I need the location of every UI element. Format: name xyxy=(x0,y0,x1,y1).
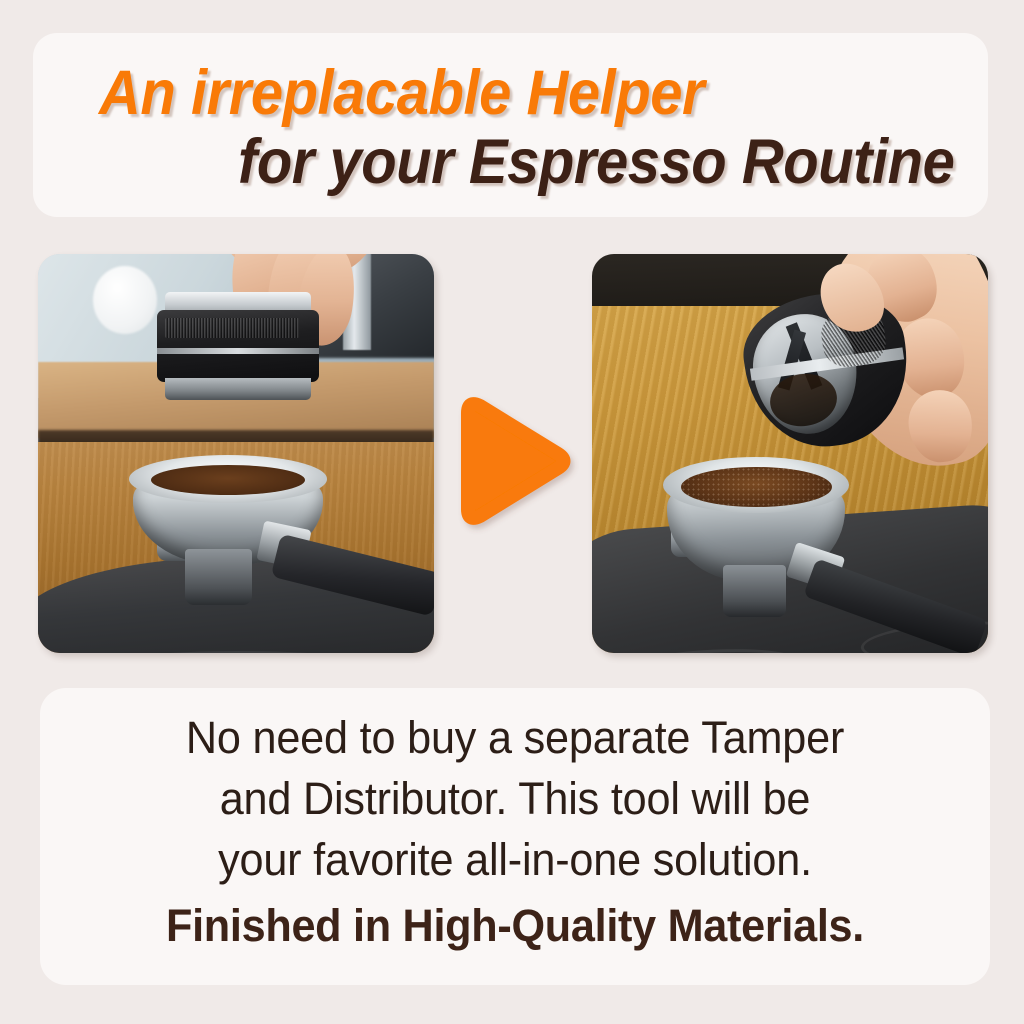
portafilter-spout xyxy=(185,549,252,605)
description-line-2: and Distributor. This tool will be xyxy=(59,768,971,829)
description-card: No need to buy a separate Tamper and Dis… xyxy=(40,688,990,985)
right-arrow-triangle-icon xyxy=(459,396,567,526)
espresso-machine-knob xyxy=(93,266,156,334)
tamping-mat-ring xyxy=(603,644,808,653)
tamping-mat-ring xyxy=(112,651,366,653)
coffee-grounds-texture xyxy=(681,467,831,507)
product-photo-after xyxy=(592,254,988,653)
photo-before-scene xyxy=(38,254,434,653)
product-infographic: An irreplacable Helper for your Espresso… xyxy=(0,0,1024,1024)
product-photo-before xyxy=(38,254,434,653)
description-line-1: No need to buy a separate Tamper xyxy=(59,707,971,768)
description-line-3: your favorite all-in-one solution. xyxy=(59,829,971,890)
tamper-knurled-grip xyxy=(165,318,300,338)
headline-line-secondary: for your Espresso Routine xyxy=(238,126,954,198)
tamper-base xyxy=(165,378,312,400)
tamper-groove xyxy=(157,348,319,354)
description-text: No need to buy a separate Tamper and Dis… xyxy=(40,707,990,953)
portafilter-spout xyxy=(723,565,786,617)
photo-after-scene xyxy=(592,254,988,653)
headline-line-primary: An irreplacable Helper xyxy=(99,57,704,129)
description-emphasis: Finished in High-Quality Materials. xyxy=(59,899,971,953)
headline-card: An irreplacable Helper for your Espresso… xyxy=(33,33,988,217)
coffee-grounds xyxy=(681,467,831,507)
